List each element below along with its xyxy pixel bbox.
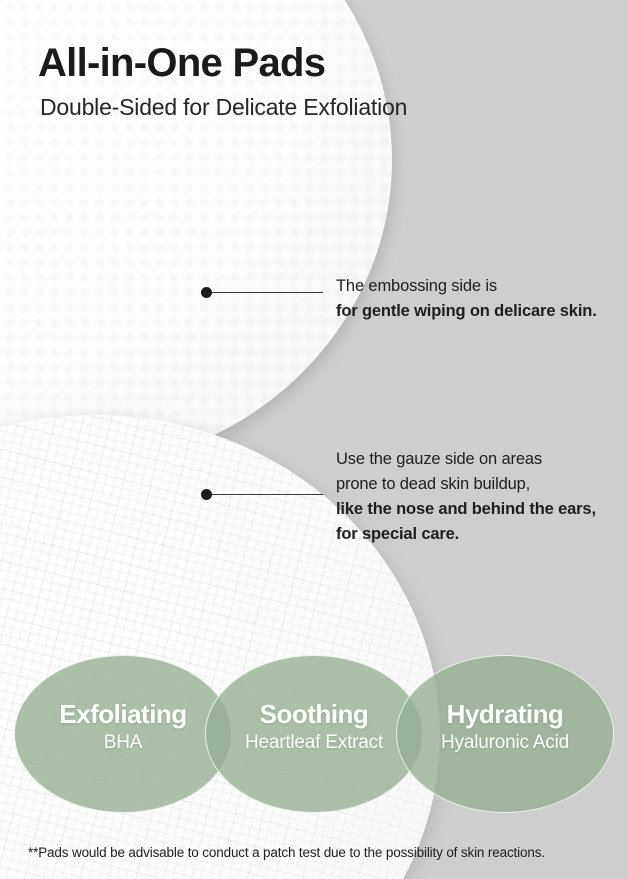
benefit-title: Hydrating [396, 700, 614, 729]
benefit-title: Exfoliating [14, 700, 232, 729]
benefit-title: Soothing [205, 700, 423, 729]
benefit-label-soothing: Soothing Heartleaf Extract [205, 700, 423, 754]
benefit-label-hydrating: Hydrating Hyaluronic Acid [396, 700, 614, 754]
product-infographic: All-in-One Pads Double-Sided for Delicat… [0, 0, 628, 879]
benefit-ingredient: BHA [14, 732, 232, 754]
benefit-ingredient: Hyaluronic Acid [396, 732, 614, 754]
benefit-label-exfoliating: Exfoliating BHA [14, 700, 232, 754]
disclaimer-footnote: **Pads would be advisable to conduct a p… [28, 845, 545, 860]
benefits-venn-diagram: Exfoliating BHA Soothing Heartleaf Extra… [0, 0, 628, 879]
benefit-ingredient: Heartleaf Extract [205, 732, 423, 754]
